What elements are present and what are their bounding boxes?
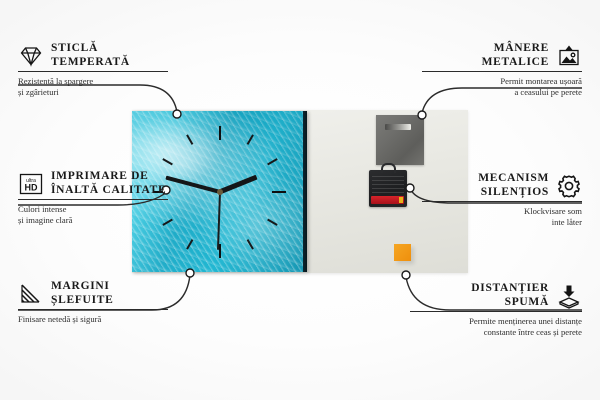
clock-center-cap — [217, 189, 223, 195]
infographic-canvas: STICLĂ TEMPERATĂ Rezistentă la spargere … — [0, 0, 600, 400]
feature-subtitle-line2: a ceasului pe perete — [422, 87, 582, 98]
ultra-hd-icon: ultra HD — [18, 171, 44, 197]
feature-title-line2: METALICE — [482, 56, 549, 70]
polished-edge-icon — [18, 281, 44, 307]
feature-title-line1: MÂNERE — [482, 42, 549, 56]
feature-title-line2: SPUMĂ — [471, 296, 549, 310]
feature-subtitle-line1: Culori intense — [18, 204, 168, 215]
diamond-icon — [18, 43, 44, 69]
feature-subtitle-line1: Rezistentă la spargere — [18, 76, 168, 87]
feature-title-line1: IMPRIMARE DE — [51, 170, 166, 184]
clock-edge — [303, 111, 307, 272]
feature-divider — [410, 311, 582, 312]
svg-text:HD: HD — [25, 182, 38, 192]
feature-subtitle-line1: Finisare netedă și sigură — [18, 314, 168, 325]
feature-title-line1: MARGINI — [51, 280, 113, 294]
feature-subtitle-line1: Permite menținerea unei distanțe — [410, 316, 582, 327]
feature-high-quality-print: ultra HD IMPRIMARE DE ÎNALTĂ CALITATE Cu… — [18, 170, 168, 225]
feature-title-line2: ȘLEFUITE — [51, 294, 113, 308]
feature-heading: DISTANȚIER SPUMĂ — [410, 282, 582, 309]
feature-title-line2: TEMPERATĂ — [51, 56, 130, 70]
feature-divider — [422, 201, 582, 202]
feature-subtitle-line1: Klockvisare som — [422, 206, 582, 217]
feature-heading: MECANISM SILENȚIOS — [422, 172, 582, 199]
clock-mechanism — [369, 170, 407, 207]
feature-subtitle-line2: și imagine clară — [18, 215, 168, 226]
feature-divider — [422, 71, 582, 72]
feature-heading: MÂNERE METALICE — [422, 42, 582, 69]
mechanism-hang-loop — [381, 163, 396, 173]
mechanism-battery — [371, 196, 404, 204]
feature-divider — [18, 199, 168, 200]
feature-title-line2: ÎNALTĂ CALITATE — [51, 184, 166, 198]
feature-title-line1: DISTANȚIER — [471, 282, 549, 296]
feature-silent-mechanism: MECANISM SILENȚIOS Klockvisare som inte … — [422, 172, 582, 227]
picture-hanger-icon — [556, 43, 582, 69]
feature-subtitle-line2: inte låter — [422, 217, 582, 228]
foam-spacer-icon — [556, 283, 582, 309]
clock-tick — [220, 191, 286, 193]
feature-heading: STICLĂ TEMPERATĂ — [18, 42, 168, 69]
feature-title-line1: MECANISM — [478, 172, 549, 186]
feature-subtitle-line1: Permit montarea ușoară — [422, 76, 582, 87]
feature-heading: MARGINI ȘLEFUITE — [18, 280, 168, 307]
feature-divider — [18, 309, 168, 310]
feature-heading: ultra HD IMPRIMARE DE ÎNALTĂ CALITATE — [18, 170, 168, 197]
feature-tempered-glass: STICLĂ TEMPERATĂ Rezistentă la spargere … — [18, 42, 168, 97]
metal-hanger-plate — [376, 115, 424, 165]
feature-metal-handles: MÂNERE METALICE Permit montarea ușoară a… — [422, 42, 582, 97]
feature-title-line1: STICLĂ — [51, 42, 130, 56]
feature-subtitle-line2: constante între ceas și perete — [410, 327, 582, 338]
feature-divider — [18, 71, 168, 72]
mechanism-label — [372, 173, 404, 193]
feature-polished-edges: MARGINI ȘLEFUITE Finisare netedă și sigu… — [18, 280, 168, 325]
feature-title-line2: SILENȚIOS — [478, 186, 549, 200]
feature-foam-spacer: DISTANȚIER SPUMĂ Permite menținerea unei… — [410, 282, 582, 337]
gear-icon — [556, 173, 582, 199]
battery-terminal — [399, 197, 403, 203]
feature-subtitle-line2: și zgârieturi — [18, 87, 168, 98]
clock-tick — [219, 126, 221, 192]
metal-hanger-slot — [385, 124, 411, 130]
product-photo — [132, 110, 468, 273]
foam-spacer — [394, 244, 411, 261]
